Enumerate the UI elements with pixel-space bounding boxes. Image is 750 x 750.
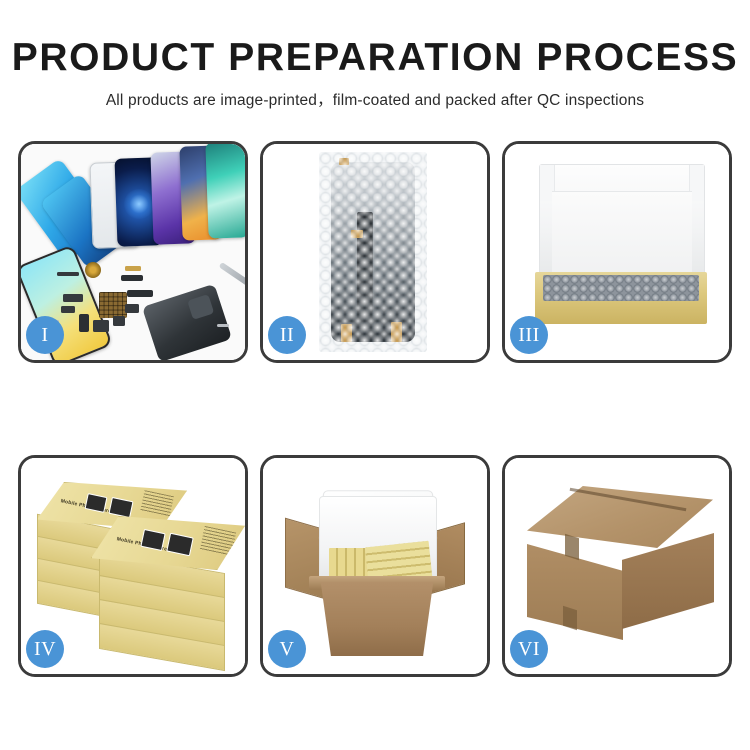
speaker-coil-part-icon [85, 262, 101, 278]
process-step-2[interactable]: II [260, 141, 490, 363]
screw-part-icon [217, 324, 229, 327]
tweezers-tool-icon [219, 262, 245, 288]
lid-inner-panel-icon [552, 191, 692, 277]
step-2-badge: II [268, 316, 306, 354]
process-step-4[interactable]: Mobile Phone Spare Parts Mobile Phone Sp… [18, 455, 248, 677]
step-4-badge: IV [26, 630, 64, 668]
button-part-icon [125, 304, 139, 313]
vibrator-part-icon [113, 316, 125, 326]
process-step-5[interactable]: V [260, 455, 490, 677]
yellow-box-tray-icon [535, 272, 707, 324]
carton-right-face-icon [622, 533, 714, 629]
process-step-6[interactable]: VI [502, 455, 732, 677]
box-spec-lines-back [140, 490, 174, 518]
bubble-texture-layer-2-icon [319, 152, 427, 352]
process-step-1[interactable]: I [18, 141, 248, 363]
step-5-badge: V [268, 630, 306, 668]
page-subtitle: All products are image-printed，film-coat… [0, 88, 750, 110]
process-step-3[interactable]: III [502, 141, 732, 363]
process-step-grid: I II [18, 141, 732, 677]
page-title: PRODUCT PREPARATION PROCESS [0, 38, 750, 79]
long-flex-part-icon [127, 290, 153, 297]
carton-tape-upper-icon [565, 534, 579, 561]
box-spec-lines-front [200, 526, 236, 556]
ribbon-cable-part-icon [79, 314, 89, 332]
step-3-badge: III [510, 316, 548, 354]
phone-display-teal-icon [205, 144, 245, 239]
flex-cable-part-icon [121, 275, 143, 281]
page-header: PRODUCT PREPARATION PROCESS All products… [0, 0, 750, 110]
carton-body-icon [313, 582, 441, 656]
phone-housing-frame-icon [142, 284, 232, 360]
ic-chip-grid-part-icon [99, 292, 127, 318]
camera-module-part-icon [93, 320, 109, 332]
white-box-lid-icon [539, 164, 705, 278]
gold-flex-part-icon [125, 266, 141, 271]
antenna-strip-part-icon [57, 272, 79, 276]
step-1-badge: I [26, 316, 64, 354]
bubble-wrapped-contents-icon [543, 275, 699, 301]
carton-top-face-icon [527, 486, 713, 548]
connector-part-icon [63, 294, 83, 302]
bubble-wrap-bag-icon [319, 152, 427, 352]
step-6-badge: VI [510, 630, 548, 668]
small-bracket-part-icon [61, 306, 75, 313]
carton-tape-lower-icon [563, 606, 577, 631]
